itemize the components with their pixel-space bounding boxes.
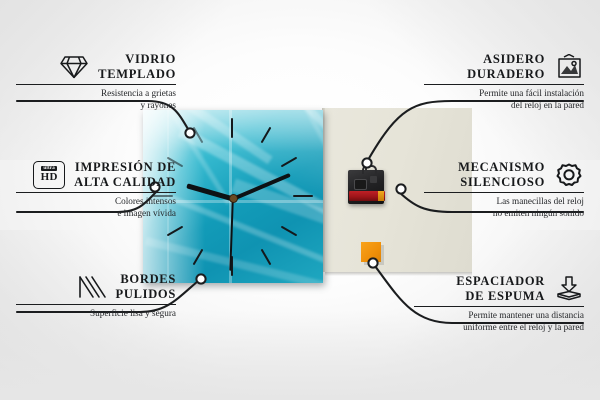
feature-description: Las manecillas del reloj no emiten ningú… bbox=[424, 196, 584, 218]
feature-title: VIDRIO TEMPLADO bbox=[98, 52, 176, 81]
feature-title: BORDES PULIDOS bbox=[116, 272, 176, 301]
hour-tick bbox=[281, 226, 298, 237]
feature-title-line2: PULIDOS bbox=[116, 287, 176, 302]
feature-description: Permite mantener una distancia uniforme … bbox=[414, 310, 584, 332]
feature-title-line1: MECANISMO bbox=[458, 160, 545, 174]
foam-spacer-icon bbox=[554, 276, 584, 302]
feature-divider bbox=[424, 192, 584, 193]
feature-desc-line1: Permite mantener una distancia bbox=[468, 310, 584, 320]
feature-asidero-duradero: ASIDERO DURADERO Permite una fácil insta… bbox=[424, 52, 584, 111]
feature-title: IMPRESIÓN DE ALTA CALIDAD bbox=[74, 160, 176, 189]
mechanism-dial bbox=[354, 179, 367, 190]
diamond-icon bbox=[59, 54, 89, 80]
feature-desc-line2: e imagen vívida bbox=[117, 208, 176, 218]
feature-title-line2: ALTA CALIDAD bbox=[74, 175, 176, 190]
feature-desc-line1: Colores intensos bbox=[115, 196, 176, 206]
feature-desc-line2: del reloj en la pared bbox=[511, 100, 584, 110]
feature-impresion-alta-calidad: ultra HD IMPRESIÓN DE ALTA CALIDAD Color… bbox=[16, 160, 176, 219]
feature-divider bbox=[16, 84, 176, 85]
feature-description: Colores intensos e imagen vívida bbox=[16, 196, 176, 218]
feature-header: ESPACIADOR DE ESPUMA bbox=[414, 274, 584, 303]
infographic-canvas: VIDRIO TEMPLADO Resistencia a grietas y … bbox=[0, 0, 600, 400]
feature-divider bbox=[16, 192, 176, 193]
foam-spacer bbox=[361, 242, 381, 262]
clock-mechanism bbox=[348, 170, 384, 204]
feature-title-line1: IMPRESIÓN DE bbox=[75, 160, 176, 174]
feature-title-line1: BORDES bbox=[120, 272, 176, 286]
feature-header: VIDRIO TEMPLADO bbox=[16, 52, 176, 81]
feature-desc-line1: Las manecillas del reloj bbox=[496, 196, 584, 206]
feature-divider bbox=[16, 304, 176, 305]
hour-tick bbox=[261, 249, 272, 266]
ultra-hd-icon: ultra HD bbox=[33, 161, 65, 189]
ultra-hd-badge-main: HD bbox=[41, 172, 58, 183]
feature-desc-line1: Resistencia a grietas bbox=[101, 88, 176, 98]
feature-title-line2: DE ESPUMA bbox=[456, 289, 545, 304]
feature-description: Superficie lisa y segura bbox=[16, 308, 176, 319]
feature-description: Resistencia a grietas y rayones bbox=[16, 88, 176, 110]
gear-icon bbox=[554, 162, 584, 188]
feature-espaciador-de-espuma: ESPACIADOR DE ESPUMA Permite mantener un… bbox=[414, 274, 584, 333]
feature-bordes-pulidos: BORDES PULIDOS Superficie lisa y segura bbox=[16, 272, 176, 320]
feature-header: ASIDERO DURADERO bbox=[424, 52, 584, 81]
feature-title-line1: ESPACIADOR bbox=[456, 274, 545, 288]
feature-title: ESPACIADOR DE ESPUMA bbox=[456, 274, 545, 303]
feature-description: Permite una fácil instalación del reloj … bbox=[424, 88, 584, 110]
feature-desc-line1: Permite una fácil instalación bbox=[479, 88, 584, 98]
feature-title-line2: SILENCIOSO bbox=[458, 175, 545, 190]
hour-tick bbox=[231, 118, 233, 138]
feature-header: MECANISMO SILENCIOSO bbox=[424, 160, 584, 189]
hour-tick bbox=[293, 195, 313, 197]
hour-tick bbox=[281, 157, 298, 168]
feature-desc-line2: no emiten ningún sonido bbox=[493, 208, 584, 218]
feature-title: ASIDERO DURADERO bbox=[467, 52, 545, 81]
battery-terminal bbox=[378, 191, 384, 201]
mechanism-button bbox=[370, 176, 377, 183]
feature-header: ultra HD IMPRESIÓN DE ALTA CALIDAD bbox=[16, 160, 176, 189]
feature-header: BORDES PULIDOS bbox=[16, 272, 176, 301]
feature-desc-line2: y rayones bbox=[141, 100, 176, 110]
feature-title-line1: ASIDERO bbox=[483, 52, 545, 66]
hands-center-cap bbox=[229, 194, 238, 203]
feature-divider bbox=[414, 306, 584, 307]
feature-desc-line1: Superficie lisa y segura bbox=[90, 308, 176, 318]
picture-hanger-icon bbox=[554, 54, 584, 80]
feature-divider bbox=[424, 84, 584, 85]
feature-title: MECANISMO SILENCIOSO bbox=[458, 160, 545, 189]
feature-title-line1: VIDRIO bbox=[125, 52, 176, 66]
feature-title-line2: DURADERO bbox=[467, 67, 545, 82]
feature-title-line2: TEMPLADO bbox=[98, 67, 176, 82]
feature-mecanismo-silencioso: MECANISMO SILENCIOSO Las manecillas del … bbox=[424, 160, 584, 219]
polished-edges-icon bbox=[77, 274, 107, 300]
mechanism-hanger bbox=[362, 165, 377, 174]
feature-vidrio-templado: VIDRIO TEMPLADO Resistencia a grietas y … bbox=[16, 52, 176, 111]
feature-desc-line2: uniforme entre el reloj y la pared bbox=[463, 322, 584, 332]
face-highlight-top bbox=[143, 110, 323, 152]
